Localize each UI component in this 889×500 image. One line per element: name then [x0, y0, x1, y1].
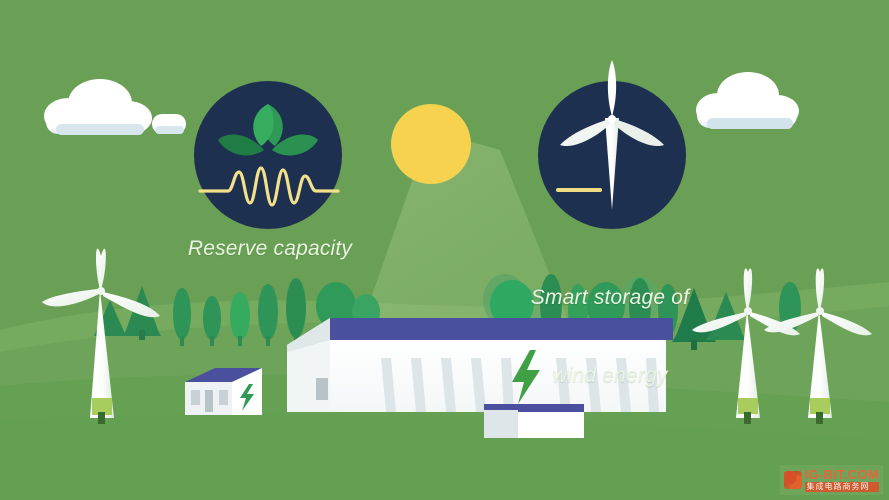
label-smart-line1: Smart storage of: [485, 285, 735, 311]
watermark-text: IG-BIT.COM 集成电路商务网: [805, 468, 880, 492]
watermark-subtitle: 集成电路商务网: [805, 482, 880, 492]
scene-artwork: [0, 0, 889, 500]
label-reserve-capacity: Reserve capacity: [150, 236, 390, 262]
house-window: [219, 390, 228, 405]
yellow-bar-line: [556, 188, 602, 192]
watermark: IG-BIT.COM 集成电路商务网: [780, 465, 884, 495]
label-smart-storage: Smart storage of wind energy: [485, 232, 735, 442]
house-door: [205, 390, 213, 412]
flame-logo-icon: [784, 471, 802, 489]
house-window: [191, 390, 200, 405]
illustration-canvas: Reserve capacity Smart storage of wind e…: [0, 0, 889, 500]
label-smart-line2: wind energy: [485, 363, 735, 389]
cloud-small-left: [152, 114, 186, 134]
watermark-domain: IG-BIT.COM: [805, 468, 880, 481]
reserve-capacity-icon: [194, 81, 342, 229]
sun-icon: [391, 104, 471, 184]
